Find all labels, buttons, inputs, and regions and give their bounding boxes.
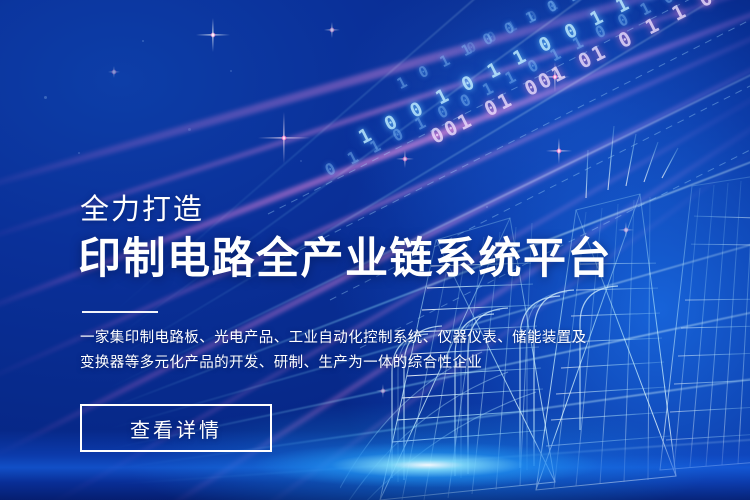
hero-description: 一家集印制电路板、光电产品、工业自动化控制系统、仪器仪表、储能装置及变换器等多元… [80, 326, 600, 376]
hero-eyebrow: 全力打造 [80, 196, 204, 225]
hero-headline: 印制电路全产业链系统平台 [78, 238, 612, 281]
hero-content: 全力打造 印制电路全产业链系统平台 一家集印制电路板、光电产品、工业自动化控制系… [80, 0, 700, 500]
view-details-button[interactable]: 查看详情 [80, 404, 272, 452]
hero-divider-rule [82, 311, 158, 313]
hero-banner: 1 0 0 1 0 1 1 0 0 1 1 0 1 0 0 1 001 01 0… [0, 0, 750, 500]
